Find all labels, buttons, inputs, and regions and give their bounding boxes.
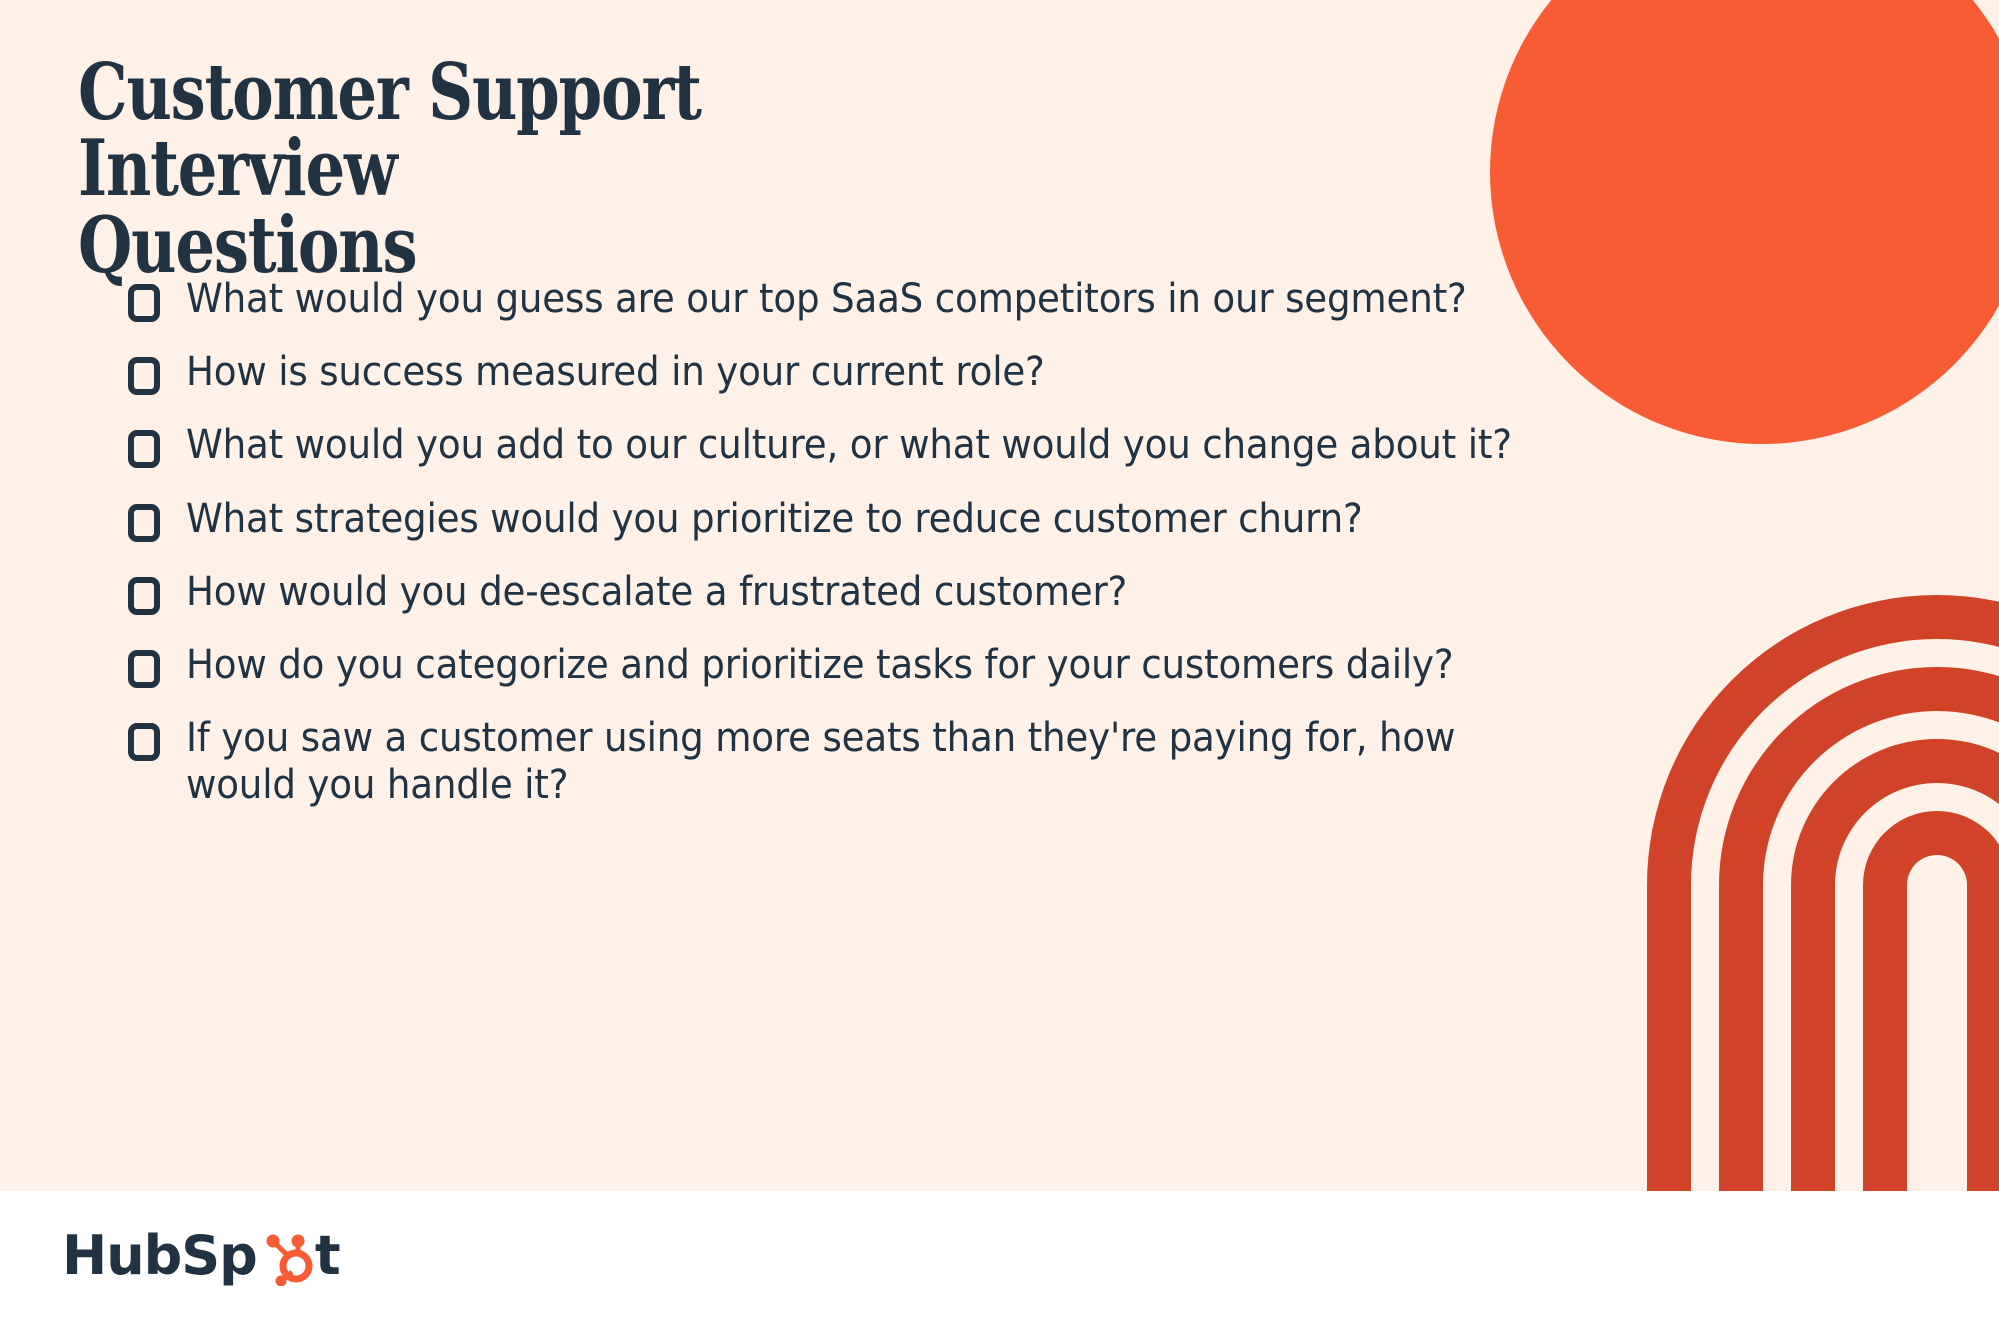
list-item[interactable]: How would you de-escalate a frustrated c… [128,569,1628,616]
question-text: What would you guess are our top SaaS co… [186,276,1527,323]
logo-word-end: t [315,1229,340,1283]
question-text: What would you add to our culture, or wh… [186,422,1527,469]
arch-ring-1 [1647,595,1999,1191]
question-text: How do you categorize and prioritize tas… [186,642,1527,689]
arch-ring-4 [1863,811,1999,1191]
list-item[interactable]: What strategies would you prioritize to … [128,496,1628,543]
question-text: How would you de-escalate a frustrated c… [186,569,1527,616]
hubspot-sprocket-icon [258,1230,314,1286]
page-title: Customer Support Interview Questions [78,55,1022,284]
list-item[interactable]: What would you guess are our top SaaS co… [128,276,1628,323]
empty-checkbox-icon[interactable] [128,430,160,468]
hubspot-logo[interactable]: HubSp t [62,1221,340,1291]
arch-ring-2 [1719,667,1999,1191]
interview-questions-checklist: What would you guess are our top SaaS co… [128,276,1628,836]
empty-checkbox-icon[interactable] [128,650,160,688]
list-item[interactable]: What would you add to our culture, or wh… [128,422,1628,469]
empty-checkbox-icon[interactable] [128,504,160,542]
empty-checkbox-icon[interactable] [128,723,160,761]
poster-canvas: Customer Support Interview Questions Wha… [0,0,1999,1333]
list-item[interactable]: If you saw a customer using more seats t… [128,715,1628,809]
arch-ring-3 [1791,739,1999,1191]
question-text: What strategies would you prioritize to … [186,496,1527,543]
cream-panel: Customer Support Interview Questions Wha… [0,0,1999,1191]
logo-word-start: HubSp [62,1229,257,1283]
list-item[interactable]: How is success measured in your current … [128,349,1628,396]
title-block: Customer Support Interview Questions [78,55,1258,284]
question-text: If you saw a customer using more seats t… [186,715,1527,809]
question-text: How is success measured in your current … [186,349,1527,396]
empty-checkbox-icon[interactable] [128,284,160,322]
empty-checkbox-icon[interactable] [128,357,160,395]
footer-bar: HubSp t [0,1191,1999,1333]
empty-checkbox-icon[interactable] [128,577,160,615]
list-item[interactable]: How do you categorize and prioritize tas… [128,642,1628,689]
